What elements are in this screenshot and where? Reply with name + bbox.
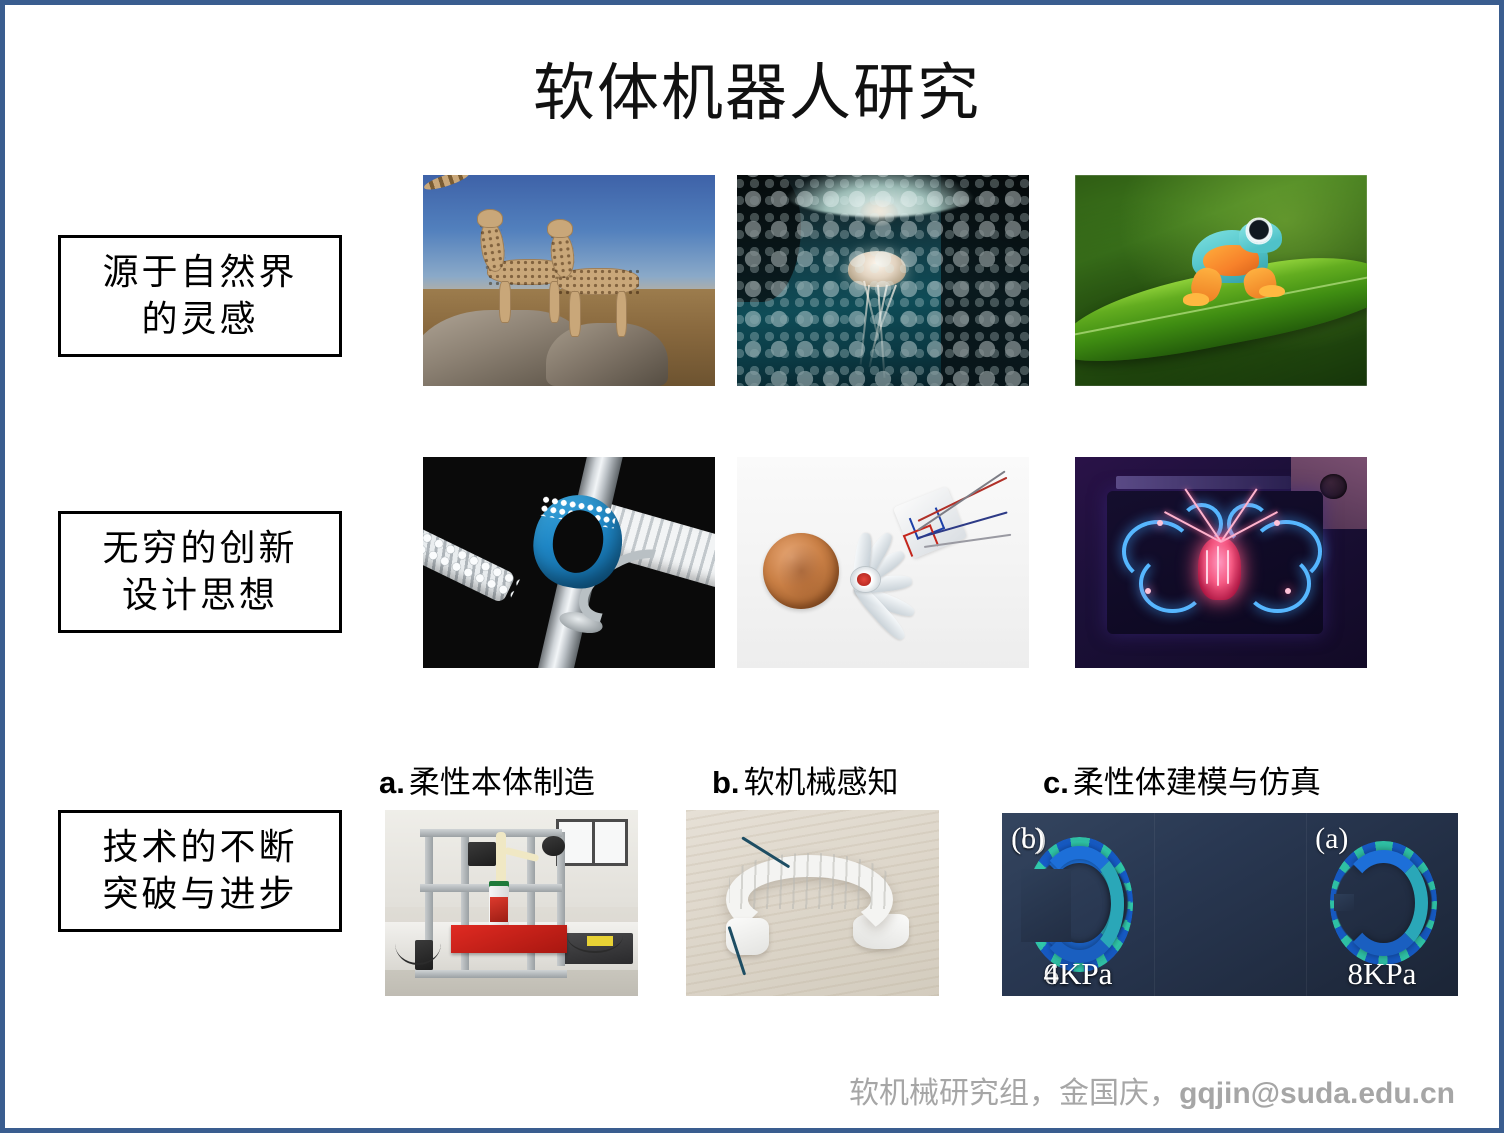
image-cheetahs-on-rock xyxy=(423,175,715,386)
cable xyxy=(395,922,441,965)
cheetah-two-head xyxy=(547,219,573,238)
glowing-core-body xyxy=(1198,537,1242,600)
row-label-nature-inspiration: 源于自然界 的灵感 xyxy=(58,235,342,357)
actuator-ribs xyxy=(729,853,891,909)
cable xyxy=(567,918,623,953)
coil-gap xyxy=(1021,869,1070,942)
sim-cell-a-value: 8KPa xyxy=(1306,956,1458,992)
glowing-channel xyxy=(1244,554,1310,613)
cheetah-one-head xyxy=(477,209,503,228)
caption-b-text: 软机械感知 xyxy=(744,765,899,800)
cheetah-one-leg-front xyxy=(499,281,511,323)
glow-node xyxy=(1145,588,1151,594)
printer-frame-rail xyxy=(415,970,567,978)
row-label-line2: 设计思想 xyxy=(122,572,278,619)
coil-deformation-c xyxy=(1035,846,1123,963)
controller-board xyxy=(451,925,567,953)
syringe-material xyxy=(490,897,508,921)
caption-c: c.柔性体建模与仿真 xyxy=(1043,757,1321,802)
feed-tube xyxy=(496,832,506,888)
rock-right xyxy=(546,323,669,386)
frog-rear-foot xyxy=(1259,285,1285,298)
coil-gap xyxy=(1334,894,1353,911)
row-label-line1: 无穷的创新 xyxy=(102,525,297,572)
chip-edge-bar xyxy=(1116,476,1291,489)
frog-eye xyxy=(1247,219,1270,242)
device-hub-core xyxy=(857,573,872,586)
mounting-hole xyxy=(1320,474,1346,499)
image-tree-frog-on-leaf xyxy=(1075,175,1367,386)
water-bubbles xyxy=(737,175,1029,386)
printer-frame-rail xyxy=(420,829,562,837)
row-label-technology-progress: 技术的不断 突破与进步 xyxy=(58,810,342,932)
row-label-line1: 源于自然界 xyxy=(102,249,297,296)
row-label-line2: 的灵感 xyxy=(141,296,258,343)
caption-a: a.柔性本体制造 xyxy=(379,757,595,802)
footer-credit: 软机械研究组，金国庆，gqjin@suda.edu.cn xyxy=(849,1068,1455,1112)
image-micro-soft-device-with-penny xyxy=(737,457,1029,668)
caption-c-text: 柔性体建模与仿真 xyxy=(1073,765,1321,800)
cheetah-two-leg-front xyxy=(569,291,581,337)
image-glowing-microfluidic-chip xyxy=(1075,457,1367,668)
page-title: 软体机器人研究 xyxy=(5,63,1504,125)
image-soft-bellows-actuator-photo xyxy=(686,810,939,996)
row-label-innovative-design: 无穷的创新 设计思想 xyxy=(58,511,342,633)
caption-b: b.软机械感知 xyxy=(712,757,899,802)
sim-cell-a: (a) 8KPa xyxy=(1306,813,1458,996)
core-stripe xyxy=(1217,546,1219,586)
frog-front-foot xyxy=(1183,293,1209,306)
row-label-line1: 技术的不断 xyxy=(102,824,297,871)
image-jellyfish-underwater xyxy=(737,175,1029,386)
sim-cell-c: (c) 4KPa xyxy=(1002,813,1154,996)
caption-a-text: 柔性本体制造 xyxy=(409,765,595,800)
footer-group: 软机械研究组，金国庆， xyxy=(849,1077,1179,1110)
image-3d-printer-photo xyxy=(385,810,638,996)
window xyxy=(556,819,628,866)
extruder-motor xyxy=(468,842,496,866)
panel-divider xyxy=(1154,813,1155,996)
penny-portrait xyxy=(778,544,825,599)
sim-cell-c-value: 4KPa xyxy=(1002,956,1154,992)
slide-frame: 软体机器人研究 源于自然界 的灵感 无穷的创新 设计思想 技术的不断 突破与进步 xyxy=(0,0,1504,1133)
cheetah-two-leg-rear xyxy=(616,291,628,337)
glowing-channel xyxy=(1139,554,1205,613)
glow-node xyxy=(1274,520,1280,526)
image-soft-gripper-on-rod xyxy=(423,457,715,668)
coil-deformation-a xyxy=(1339,850,1427,956)
drive-pulley xyxy=(542,836,565,856)
core-stripe xyxy=(1227,550,1229,584)
row-label-line2: 突破与进步 xyxy=(102,871,297,918)
footer-email: gqjin@suda.edu.cn xyxy=(1179,1077,1455,1110)
caption-b-tag: b. xyxy=(712,765,740,800)
caption-c-tag: c. xyxy=(1043,765,1069,800)
caption-a-tag: a. xyxy=(379,765,405,800)
fea-simulation-panel: (a) 8KPa (b) 6KPa (c) 4KP xyxy=(1002,813,1458,996)
